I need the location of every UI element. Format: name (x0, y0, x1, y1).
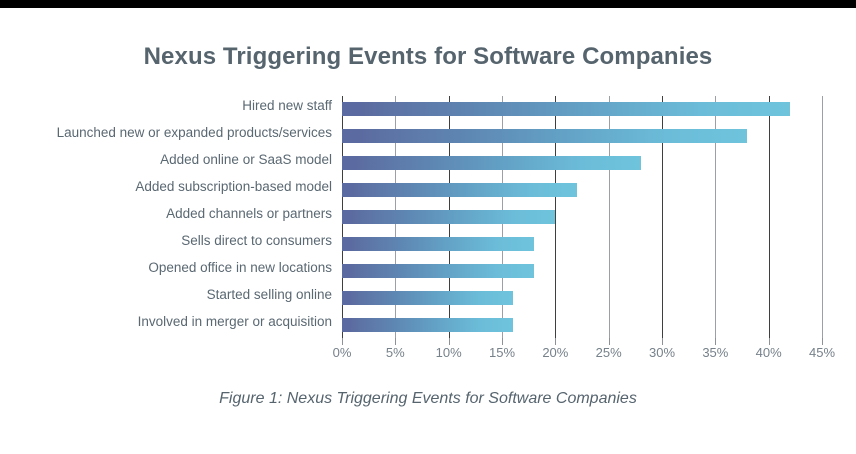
x-tick-label: 10% (436, 345, 462, 360)
bar-track (342, 183, 822, 197)
chart-row: Sells direct to consumers (0, 231, 856, 258)
bar (342, 156, 641, 170)
axis-tick-45 (822, 338, 823, 345)
x-tick-label: 30% (649, 345, 675, 360)
category-label: Added subscription-based model (0, 179, 332, 194)
bar (342, 264, 534, 278)
chart-row: Involved in merger or acquisition (0, 312, 856, 339)
bar-track (342, 291, 822, 305)
bar-rows: Hired new staffLaunched new or expanded … (0, 96, 856, 339)
bar (342, 210, 555, 224)
x-tick-label: 15% (489, 345, 515, 360)
x-tick-label: 40% (756, 345, 782, 360)
bar (342, 129, 747, 143)
plot-area: Hired new staffLaunched new or expanded … (0, 0, 856, 454)
axis-tick-30 (662, 338, 663, 345)
x-tick-label: 5% (386, 345, 405, 360)
category-label: Added channels or partners (0, 206, 332, 221)
axis-tick-0 (342, 338, 343, 345)
x-tick-label: 35% (702, 345, 728, 360)
chart-page: Nexus Triggering Events for Software Com… (0, 0, 856, 454)
bar-track (342, 264, 822, 278)
axis-tick-15 (502, 338, 503, 345)
bar-track (342, 102, 822, 116)
axis-tick-5 (395, 338, 396, 345)
category-label: Sells direct to consumers (0, 233, 332, 248)
chart-row: Added channels or partners (0, 204, 856, 231)
axis-tick-10 (449, 338, 450, 345)
chart-row: Added subscription-based model (0, 177, 856, 204)
axis-tick-20 (555, 338, 556, 345)
bar-track (342, 318, 822, 332)
chart-row: Opened office in new locations (0, 258, 856, 285)
chart-row: Started selling online (0, 285, 856, 312)
bar-track (342, 210, 822, 224)
figure-caption: Figure 1: Nexus Triggering Events for So… (0, 390, 856, 408)
x-tick-label: 45% (809, 345, 835, 360)
category-label: Involved in merger or acquisition (0, 314, 332, 329)
chart-row: Launched new or expanded products/servic… (0, 123, 856, 150)
axis-tick-40 (769, 338, 770, 345)
bar-track (342, 237, 822, 251)
bar (342, 291, 513, 305)
axis-tick-25 (609, 338, 610, 345)
chart-row: Hired new staff (0, 96, 856, 123)
axis-tick-35 (715, 338, 716, 345)
category-label: Started selling online (0, 287, 332, 302)
x-axis-tick-labels: 0%5%10%15%20%25%30%35%40%45% (342, 345, 822, 365)
category-label: Opened office in new locations (0, 260, 332, 275)
bar (342, 183, 577, 197)
category-label: Hired new staff (0, 98, 332, 113)
bar (342, 318, 513, 332)
bar-track (342, 156, 822, 170)
x-tick-label: 20% (542, 345, 568, 360)
bar (342, 237, 534, 251)
bar (342, 102, 790, 116)
x-tick-label: 25% (596, 345, 622, 360)
category-label: Added online or SaaS model (0, 152, 332, 167)
chart-row: Added online or SaaS model (0, 150, 856, 177)
x-tick-label: 0% (333, 345, 352, 360)
category-label: Launched new or expanded products/servic… (0, 125, 332, 140)
bar-track (342, 129, 822, 143)
